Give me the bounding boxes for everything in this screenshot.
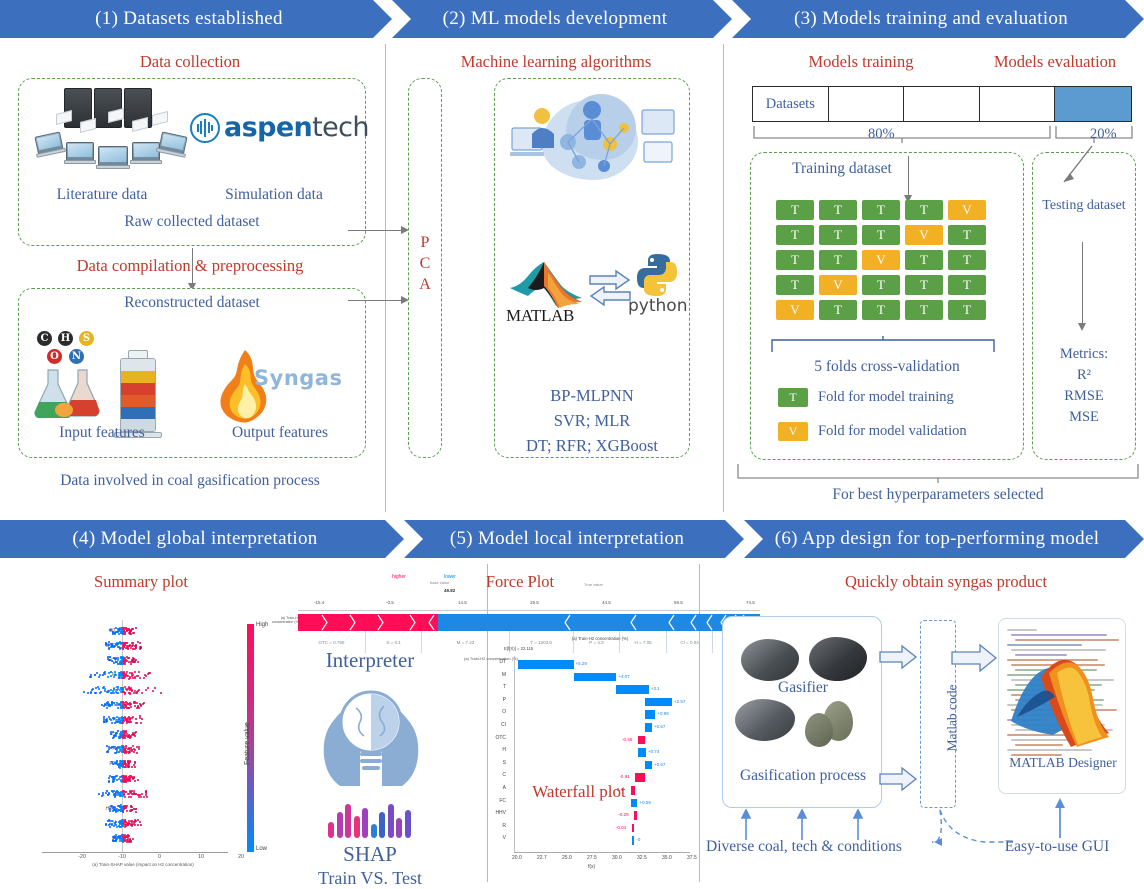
beeswarm-point <box>106 707 108 709</box>
waterfall-feature-S: S <box>472 760 506 766</box>
beeswarm-point <box>130 796 132 798</box>
beeswarm-point <box>128 796 130 798</box>
beeswarm-point <box>136 746 138 748</box>
matlab-designer-card: MATLAB Designer <box>998 618 1126 794</box>
beeswarm-point <box>117 792 119 794</box>
beeswarm-point <box>137 661 139 663</box>
banner-3-label: (3) Models training and evaluation <box>794 8 1082 30</box>
beeswarm-point <box>125 719 127 721</box>
dataset-split-table: Datasets <box>752 86 1132 122</box>
fold-cell-3-1: V <box>819 275 857 295</box>
beeswarm-point <box>126 642 128 644</box>
beeswarm-point <box>113 736 115 738</box>
interpreter-head-icon <box>296 678 446 793</box>
beeswarm-point <box>83 691 85 693</box>
beeswarm-point <box>117 631 119 633</box>
aspentech-wordmark: aspentech <box>224 112 369 143</box>
beeswarm-point <box>133 658 135 660</box>
waterfall-value: +2.57 <box>674 699 685 704</box>
waterfall-plot: E[f(X)] = 22.115 (a) Train-H2 concentrat… <box>470 648 700 878</box>
waterfall-bar <box>574 673 617 682</box>
beeswarm-point <box>139 677 141 679</box>
matlab-code-label: Matlab code <box>945 684 961 751</box>
beeswarm-point <box>98 688 100 690</box>
beeswarm-point <box>136 752 138 754</box>
beeswarm-point <box>118 677 120 679</box>
waterfall-bar <box>645 710 655 719</box>
beeswarm-point <box>122 717 124 719</box>
beeswarm-point <box>128 692 130 694</box>
beeswarm-point <box>123 643 125 645</box>
simulation-data-label: Simulation data <box>190 186 358 204</box>
force-xtick: -0.5 <box>386 600 394 605</box>
beeswarm-point <box>119 836 121 838</box>
beeswarm-point <box>128 645 130 647</box>
inputs-label: Diverse coal, tech & conditions <box>706 838 898 856</box>
metrics-title: Metrics: <box>1032 344 1136 365</box>
beeswarm-point <box>130 706 132 708</box>
shap-logo-icon <box>328 802 411 838</box>
fold-cell-2-1: T <box>819 250 857 270</box>
beeswarm-point <box>127 707 129 709</box>
fold-cell-2-2: V <box>862 250 900 270</box>
beeswarm-point <box>102 674 104 676</box>
banner-4: (4) Model global interpretation <box>0 520 404 558</box>
beeswarm-point <box>134 671 136 673</box>
beeswarm-point <box>115 721 117 723</box>
beeswarm-point <box>141 793 143 795</box>
bottom-banner-strip: (4) Model global interpretation (5) Mode… <box>0 520 1144 558</box>
beeswarm-point <box>139 821 141 823</box>
fold-cell-4-2: T <box>862 300 900 320</box>
beeswarm-point <box>137 706 139 708</box>
waterfall-bar <box>638 736 645 745</box>
beeswarm-point <box>90 674 92 676</box>
force-base-label: base value <box>430 580 449 585</box>
fold-cell-4-4: T <box>948 300 986 320</box>
beeswarm-point <box>112 781 114 783</box>
beeswarm-point <box>119 648 121 650</box>
panel3-footer: For best hyperparameters selected <box>736 486 1140 504</box>
force-row-label: (a) Train-H2 concentration (%) <box>266 616 300 624</box>
waterfall-value: -0.91 <box>619 774 629 779</box>
beeswarm-point <box>124 762 126 764</box>
beeswarm-point <box>95 687 97 689</box>
fold-cell-0-0: T <box>776 200 814 220</box>
waterfall-value: +0.67 <box>654 762 665 767</box>
beeswarm-point <box>160 692 162 694</box>
server-cluster-image <box>34 88 184 166</box>
reactor-cap <box>128 350 148 359</box>
element-badge-O: O <box>46 348 63 365</box>
beeswarm-point <box>127 761 129 763</box>
waterfall-fx-label: f(x) <box>588 864 595 870</box>
beeswarm-point <box>114 796 116 798</box>
beeswarm-point <box>141 692 143 694</box>
beeswarm-point <box>118 674 120 676</box>
input-features-label: Input features <box>22 424 182 442</box>
beeswarm-point <box>132 716 134 718</box>
beeswarm-point <box>111 824 113 826</box>
beeswarm-point <box>135 722 137 724</box>
beeswarm-point <box>138 796 140 798</box>
fold-cell-1-2: T <box>862 225 900 245</box>
legend-chip-t: T <box>778 388 808 407</box>
reconstructed-dataset-label: Reconstructed dataset <box>18 294 366 312</box>
beeswarm-point <box>135 627 137 629</box>
beeswarm-point <box>138 746 140 748</box>
beeswarm-point <box>110 675 112 677</box>
force-xtick: 29.5 <box>530 600 539 605</box>
waterfall-xtick: 25.0 <box>562 855 572 861</box>
beeswarm-point <box>127 824 129 826</box>
panel3-training-caption: Models training <box>748 52 974 72</box>
beeswarm-point <box>135 808 137 810</box>
beeswarm-point <box>132 648 134 650</box>
beeswarm-point <box>121 663 123 665</box>
matlab-label: MATLAB <box>506 306 574 326</box>
fold-cell-0-3: T <box>905 200 943 220</box>
waterfall-feature-OTC: OTC <box>472 735 506 741</box>
algorithm-line-2: SVR; MLR <box>494 409 690 434</box>
beeswarm-point <box>134 648 136 650</box>
beeswarm-point <box>130 687 132 689</box>
beeswarm-point <box>134 762 136 764</box>
beeswarm-point <box>116 775 118 777</box>
beeswarm-point <box>152 690 154 692</box>
beeswarm-point <box>129 777 131 779</box>
beeswarm-point <box>132 838 134 840</box>
beeswarm-point <box>108 748 110 750</box>
literature-data-label: Literature data <box>22 186 182 204</box>
dataset-split-cell-2 <box>829 87 905 121</box>
beeswarm-point <box>108 781 110 783</box>
waterfall-value: +3.1 <box>651 686 660 691</box>
force-lower-label: lower <box>444 574 456 580</box>
beeswarm-point <box>118 737 120 739</box>
matlab-designer-label: MATLAB Designer <box>999 755 1126 771</box>
beeswarm-point <box>116 689 118 691</box>
colorbar-title: Feature value <box>244 722 251 765</box>
force-higher-label: higher <box>392 574 406 580</box>
beeswarm-point <box>125 791 127 793</box>
beeswarm-xtick: 0 <box>158 854 161 860</box>
fold-cell-0-1: T <box>819 200 857 220</box>
test-split-pct: 20% <box>1090 126 1117 143</box>
testing-dataset-text: Testing dataset <box>1042 198 1125 213</box>
fold-cell-0-4: V <box>948 200 986 220</box>
matlab-membrane-icon <box>999 629 1126 759</box>
waterfall-value: -0.04 <box>616 825 626 830</box>
beeswarm-point <box>139 642 141 644</box>
force-plot: 49.82 base value True value higher lower… <box>284 588 764 640</box>
waterfall-xtick: 27.5 <box>587 855 597 861</box>
legend-training: T Fold for model training <box>778 388 954 407</box>
beeswarm-point <box>112 763 114 765</box>
fold-cell-1-4: T <box>948 225 986 245</box>
waterfall-xtick: 32.5 <box>637 855 647 861</box>
waterfall-bar <box>518 660 574 669</box>
testing-arrow <box>1048 142 1108 194</box>
fold-cell-3-3: T <box>905 275 943 295</box>
beeswarm-point <box>113 692 115 694</box>
element-badge-N: N <box>68 348 85 365</box>
beeswarm-point <box>125 659 127 661</box>
beeswarm-point <box>125 745 127 747</box>
beeswarm-point <box>136 702 138 704</box>
waterfall-feature-DT: DT <box>472 659 506 665</box>
banner-6: (6) App design for top-performing model <box>744 520 1144 558</box>
testing-metrics-line <box>1082 242 1083 324</box>
beeswarm-point <box>106 702 108 704</box>
beeswarm-point <box>119 746 121 748</box>
fold-cell-4-0: V <box>776 300 814 320</box>
aspentech-mark-icon <box>190 113 220 143</box>
beeswarm-point <box>128 835 130 837</box>
preprocess-label: Data compilation & preprocessing <box>0 256 380 276</box>
beeswarm-point <box>129 790 131 792</box>
beeswarm-point <box>111 820 113 822</box>
panel2-caption: Machine learning algorithms <box>392 52 720 72</box>
beeswarm-point <box>154 687 156 689</box>
beeswarm-point <box>116 751 118 753</box>
pca-letter-c: C <box>408 253 442 274</box>
fold-cell-0-2: T <box>862 200 900 220</box>
beeswarm-xtick: 10 <box>198 854 204 860</box>
beeswarm-point <box>122 705 124 707</box>
legend-validation: V Fold for model validation <box>778 422 967 441</box>
waterfall-bar <box>632 836 635 845</box>
beeswarm-point <box>117 659 119 661</box>
force-xtick: 14.5 <box>458 600 467 605</box>
aspentech-logo: aspentech <box>190 112 369 143</box>
legend-chip-v: V <box>778 422 808 441</box>
waterfall-value: +0.99 <box>657 711 668 716</box>
waterfall-value: -0.29 <box>618 812 628 817</box>
beeswarm-point <box>124 693 126 695</box>
beeswarm-point <box>124 778 126 780</box>
gui-label: Easy-to-use GUI <box>970 838 1144 856</box>
beeswarm-point <box>98 676 100 678</box>
beeswarm-point <box>115 840 117 842</box>
fold-cell-3-4: T <box>948 275 986 295</box>
beeswarm-point <box>137 824 139 826</box>
beeswarm-point <box>117 805 119 807</box>
beeswarm-point <box>87 692 89 694</box>
beeswarm-point <box>123 663 125 665</box>
training-dataset-label: Training dataset <box>782 160 902 178</box>
beeswarm-point <box>145 689 147 691</box>
fold-cell-3-0: T <box>776 275 814 295</box>
force-xtick: 59.5 <box>674 600 683 605</box>
beeswarm-point <box>108 777 110 779</box>
waterfall-bar <box>635 773 645 782</box>
beeswarm-point <box>128 678 130 680</box>
beeswarm-point <box>99 674 101 676</box>
beeswarm-point <box>131 825 133 827</box>
waterfall-bar <box>645 761 652 770</box>
metrics-block: Metrics: R² RMSE MSE <box>1032 344 1136 428</box>
waterfall-feature-H: H <box>472 747 506 753</box>
force-xtick: -15.4 <box>314 600 324 605</box>
beeswarm-point <box>106 718 108 720</box>
beeswarm-point <box>138 689 140 691</box>
beeswarm-xtick: 20 <box>238 854 244 860</box>
waterfall-bar <box>616 685 649 694</box>
split-braces <box>752 124 1134 144</box>
fold-matrix: TTTTVTTTVTTTVTTTVTTTVTTTT <box>776 200 986 320</box>
beeswarm-point <box>114 734 116 736</box>
waterfall-title: (a) Train-H2 concentration (%) <box>540 636 660 641</box>
beeswarm-point <box>134 780 136 782</box>
beeswarm-point <box>116 692 118 694</box>
beeswarm-point <box>122 722 124 724</box>
dataset-split-cell-label: Datasets <box>753 87 829 121</box>
force-true-value-label: True value <box>584 582 603 587</box>
panel1-footer: Data involved in coal gasification proce… <box>0 472 380 490</box>
dataset-split-cell-test <box>1055 87 1131 121</box>
python-logo: python <box>634 252 680 303</box>
waterfall-value: +0.74 <box>648 749 659 754</box>
python-label: python <box>628 296 687 316</box>
beeswarm-point <box>105 721 107 723</box>
force-base-value: 49.82 <box>444 588 455 593</box>
beeswarm-point <box>122 702 124 704</box>
beeswarm-point <box>120 734 122 736</box>
beeswarm-point <box>126 810 128 812</box>
beeswarm-point <box>133 632 135 634</box>
top-row: (1) Datasets established (2) ML models d… <box>0 0 1144 516</box>
testing-dataset-label: Testing dataset <box>1032 198 1136 215</box>
beeswarm-point <box>119 840 121 842</box>
fold-cell-2-4: T <box>948 250 986 270</box>
beeswarm-point <box>110 689 112 691</box>
beeswarm-point <box>140 722 142 724</box>
beeswarm-point <box>117 628 119 630</box>
beeswarm-point <box>109 810 111 812</box>
beeswarm-point <box>111 701 113 703</box>
beeswarm-point <box>124 824 126 826</box>
waterfall-feature-CI: CI <box>472 722 506 728</box>
panel3-evaluation-caption: Models evaluation <box>966 52 1144 72</box>
beeswarm-point <box>122 745 124 747</box>
beeswarm-point <box>146 796 148 798</box>
bottom-row: (4) Model global interpretation (5) Mode… <box>0 520 1144 886</box>
waterfall-feature-P: P <box>472 697 506 703</box>
beeswarm-point <box>111 722 113 724</box>
waterfall-feature-M: M <box>472 672 506 678</box>
output-features-label: Output features <box>195 424 365 442</box>
banner-4-label: (4) Model global interpretation <box>72 528 331 550</box>
beeswarm-point <box>109 718 111 720</box>
dataset-split-cell-4 <box>980 87 1056 121</box>
beeswarm-point <box>129 838 131 840</box>
code-to-designer-arrow <box>950 636 998 680</box>
waterfall-caption: Waterfall plot <box>494 782 664 802</box>
top-banner-strip: (1) Datasets established (2) ML models d… <box>0 0 1144 38</box>
fold-cell-2-3: T <box>905 250 943 270</box>
beeswarm-point <box>94 692 96 694</box>
beeswarm-point <box>130 721 132 723</box>
training-arrow-line <box>908 156 909 196</box>
panel-separator-1 <box>385 44 386 512</box>
beeswarm-point <box>124 735 126 737</box>
beeswarm-point <box>143 677 145 679</box>
flask-icons <box>34 366 112 423</box>
beeswarm-point <box>127 736 129 738</box>
cv-label: 5 folds cross-validation <box>750 358 1024 376</box>
banner-2: (2) ML models development <box>392 0 732 38</box>
element-badge-S: S <box>78 330 95 347</box>
beeswarm-point <box>127 748 129 750</box>
pca-label: P C A <box>408 232 442 295</box>
banner-1: (1) Datasets established <box>0 0 392 38</box>
syngas-label: Syngas <box>254 366 342 390</box>
waterfall-xtick: 30.0 <box>612 855 622 861</box>
beeswarm-point <box>111 746 113 748</box>
waterfall-value: +0.67 <box>654 724 665 729</box>
fold-cell-2-0: T <box>776 250 814 270</box>
beeswarm-point <box>140 646 142 648</box>
waterfall-xtick: 37.5 <box>687 855 697 861</box>
beeswarm-point <box>136 692 138 694</box>
banner-2-label: (2) ML models development <box>443 8 682 30</box>
beeswarm-point <box>127 703 129 705</box>
pca-letter-a: A <box>408 274 442 295</box>
interoperability-arrows <box>588 268 630 304</box>
beeswarm-point <box>119 806 121 808</box>
waterfall-value: +5.29 <box>576 661 587 666</box>
training-dataset-text: Training dataset <box>792 160 892 177</box>
shap-label: SHAP <box>280 842 460 867</box>
waterfall-xtick: 22.7 <box>537 855 547 861</box>
beeswarm-point <box>94 674 96 676</box>
beeswarm-point <box>131 673 133 675</box>
algorithms-list: BP-MLPNN SVR; MLR DT; RFR; XGBoost <box>494 384 690 458</box>
input-arrows <box>724 808 882 842</box>
beeswarm-point <box>141 718 143 720</box>
fold-cell-1-0: T <box>776 225 814 245</box>
beeswarm-point <box>111 761 113 763</box>
fold-cell-1-3: V <box>905 225 943 245</box>
recon-to-pca-line <box>348 300 402 301</box>
force-feature-cell: OTC = 0.790 <box>298 631 366 653</box>
banner-5: (5) Model local interpretation <box>404 520 744 558</box>
beeswarm-point <box>116 779 118 781</box>
beeswarm-point <box>127 793 129 795</box>
reactor-icon <box>120 358 156 432</box>
beeswarm-point <box>107 676 109 678</box>
beeswarm-point <box>143 702 145 704</box>
waterfall-value: -0.66 <box>622 737 632 742</box>
algorithm-line-1: BP-MLPNN <box>494 384 690 409</box>
panel6-caption: Quickly obtain syngas product <box>748 572 1144 592</box>
beeswarm-point <box>113 837 115 839</box>
legend-training-text: Fold for model training <box>818 389 954 406</box>
beeswarm-point <box>101 795 103 797</box>
banner-6-label: (6) App design for top-performing model <box>775 528 1114 550</box>
waterfall-bar <box>645 698 672 707</box>
beeswarm-point <box>108 644 110 646</box>
beeswarm-point <box>105 824 107 826</box>
waterfall-bar <box>632 824 635 833</box>
fold-cell-4-1: T <box>819 300 857 320</box>
gasifier-label: Gasifier <box>723 679 883 697</box>
raw-to-pca-line <box>348 230 402 231</box>
beeswarm-point <box>134 732 136 734</box>
banner-1-label: (1) Datasets established <box>95 8 297 30</box>
beeswarm-point <box>145 675 147 677</box>
